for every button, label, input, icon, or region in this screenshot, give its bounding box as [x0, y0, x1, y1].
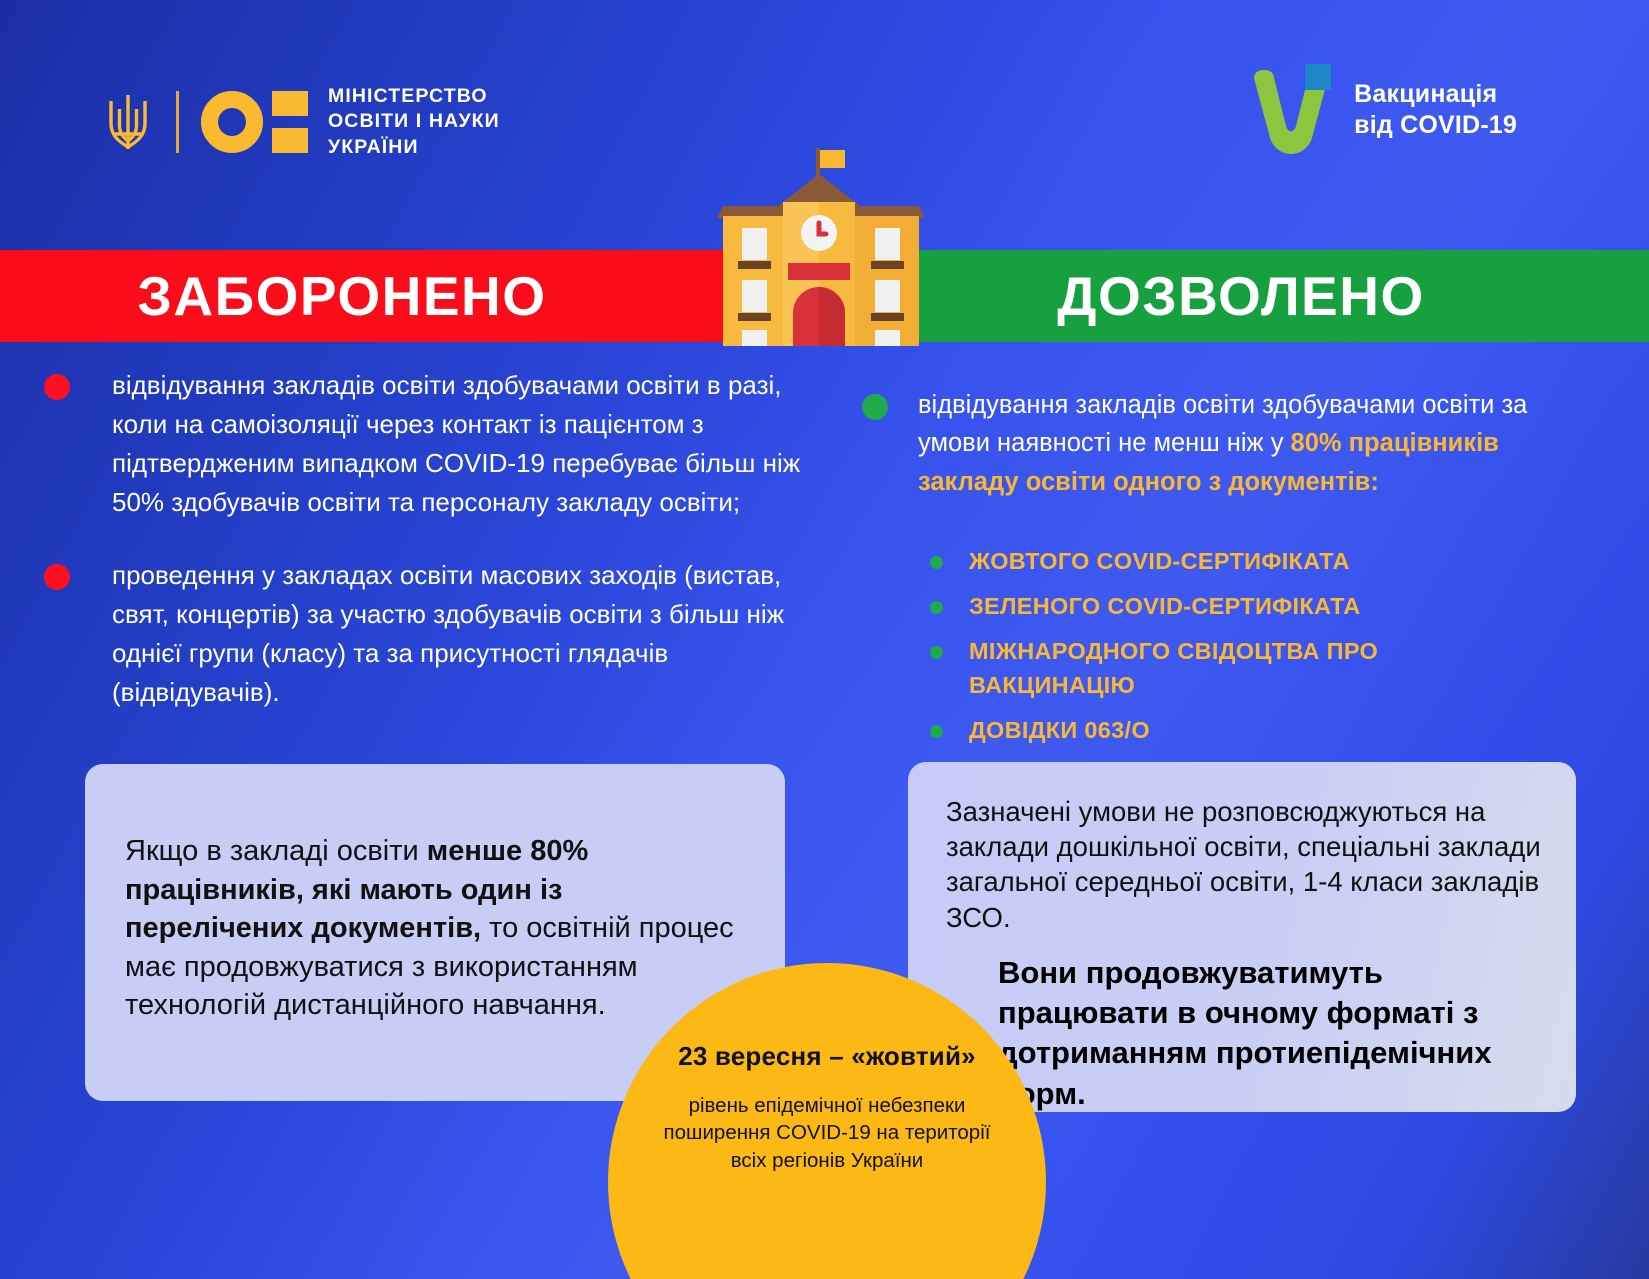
document-list: ЖОВТОГО COVID-СЕРТИФІКАТА ЗЕЛЕНОГО COVID… [930, 545, 1562, 748]
ministry-name: МІНІСТЕРСТВО ОСВІТИ І НАУКИ УКРАЇНИ [328, 84, 500, 160]
allowed-list: відвідування закладів освіти здобувачами… [862, 386, 1562, 760]
v-logo-icon [1248, 64, 1334, 156]
vaccination-logo: Вакцинація від COVID-19 [1248, 64, 1517, 156]
ministry-line-1: МІНІСТЕРСТВО [328, 84, 500, 109]
badge-subtitle: рівень епідемічної небезпеки поширення C… [608, 1092, 1046, 1174]
forbidden-item-1: відвідування закладів освіти здобувачами… [112, 366, 834, 522]
vaccination-line-2: від COVID-19 [1354, 110, 1517, 141]
list-item: МІЖНАРОДНОГО СВІДОЦТВА ПРО ВАКЦИНАЦІЮ [930, 635, 1562, 702]
list-item: проведення у закладах освіти масових зах… [44, 556, 834, 712]
exemptions-emphasis: Вони продовжуватимуть працювати в очному… [998, 953, 1554, 1114]
red-bullet-icon [44, 374, 70, 400]
forbidden-list: відвідування закладів освіти здобувачами… [44, 366, 834, 746]
vaccination-line-1: Вакцинація [1354, 79, 1517, 110]
note-part-1: Якщо в закладі освіти [125, 835, 427, 867]
list-item: відвідування закладів освіти здобувачами… [862, 386, 1562, 501]
vaccination-name: Вакцинація від COVID-19 [1354, 79, 1517, 141]
allowed-intro: відвідування закладів освіти здобувачами… [918, 386, 1562, 501]
green-bullet-icon [930, 556, 943, 569]
entrance-sign [788, 263, 850, 280]
green-bullet-icon [930, 601, 943, 614]
document-item-3: МІЖНАРОДНОГО СВІДОЦТВА ПРО ВАКЦИНАЦІЮ [969, 635, 1479, 702]
list-item: ДОВІДКИ 063/О [930, 714, 1562, 747]
forbidden-item-2: проведення у закладах освіти масових зах… [112, 556, 834, 712]
ministry-line-3: УКРАЇНИ [328, 135, 500, 160]
ministry-logo: МІНІСТЕРСТВО ОСВІТИ І НАУКИ УКРАЇНИ [104, 84, 500, 160]
infographic-poster: МІНІСТЕРСТВО ОСВІТИ І НАУКИ УКРАЇНИ Вакц… [0, 0, 1649, 1279]
list-item: ЗЕЛЕНОГО COVID-СЕРТИФІКАТА [930, 590, 1562, 623]
forbidden-banner-label: ЗАБОРОНЕНО [137, 269, 546, 324]
green-bullet-icon [930, 725, 943, 738]
allowed-banner: ДОЗВОЛЕНО [901, 250, 1649, 342]
poster-header: МІНІСТЕРСТВО ОСВІТИ І НАУКИ УКРАЇНИ Вакц… [0, 0, 1649, 248]
allowed-banner-label: ДОЗВОЛЕНО [1057, 269, 1424, 324]
green-bullet-icon [862, 394, 888, 420]
document-item-2: ЗЕЛЕНОГО COVID-СЕРТИФІКАТА [969, 590, 1361, 623]
mon-logo-icon [201, 91, 308, 153]
distance-learning-text: Якщо в закладі освіти менше 80% працівни… [125, 832, 739, 1025]
green-bullet-icon [930, 646, 943, 659]
badge-title: 23 вересня – «жовтий» [608, 1041, 1046, 1072]
forbidden-banner: ЗАБОРОНЕНО [0, 250, 768, 342]
ministry-line-2: ОСВІТИ І НАУКИ [328, 109, 500, 134]
document-item-4: ДОВІДКИ 063/О [969, 714, 1150, 747]
list-item: відвідування закладів освіти здобувачами… [44, 366, 834, 522]
list-item: ЖОВТОГО COVID-СЕРТИФІКАТА [930, 545, 1562, 578]
exemptions-paragraph: Зазначені умови не розповсюджуються на з… [946, 794, 1554, 935]
document-item-1: ЖОВТОГО COVID-СЕРТИФІКАТА [969, 545, 1350, 578]
red-bullet-icon [44, 564, 70, 590]
trident-icon [104, 91, 152, 153]
logo-divider [176, 91, 179, 153]
